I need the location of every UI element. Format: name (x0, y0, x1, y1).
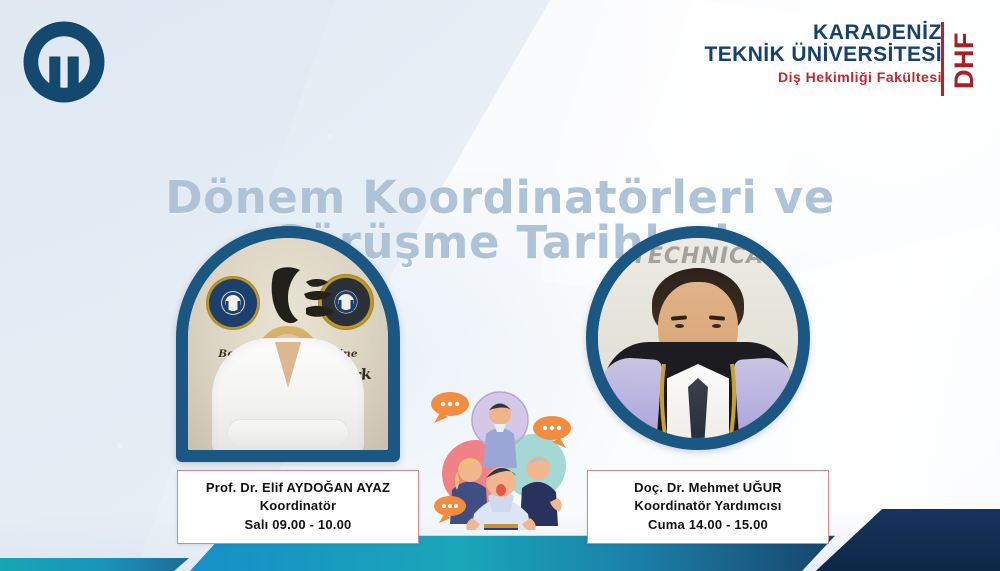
faculty-abbrev-text: DHF (949, 32, 980, 89)
person-time-left: Salı 09.00 - 10.00 (184, 516, 412, 534)
photo-right-robe (603, 342, 793, 438)
faculty-name: Diş Hekimliği Fakültesi (705, 70, 942, 85)
photo-right-brow-right (709, 315, 725, 320)
photo-right-eye-right (712, 324, 721, 328)
people-talking-illustration (428, 378, 574, 530)
photo-right: TECHNICA (598, 238, 798, 438)
person-name-right: Doç. Dr. Mehmet UĞUR (594, 479, 822, 497)
photo-right-gold-cord-icon (638, 362, 758, 438)
ktu-logo-icon (18, 16, 110, 108)
university-line-1: KARADENİZ (705, 22, 942, 44)
person-card-left: Beni Türk Hekimlerine Emanet Ediniz. K. … (176, 226, 400, 462)
ataturk-silhouette-icon (266, 266, 340, 332)
university-line-2: TEKNİK ÜNİVERSİTESİ (705, 44, 942, 66)
name-card-left: Prof. Dr. Elif AYDOĞAN AYAZ Koordinatör … (177, 470, 419, 544)
person-role-right: Koordinatör Yardımcısı (594, 497, 822, 515)
person-name-left: Prof. Dr. Elif AYDOĞAN AYAZ (184, 479, 412, 497)
photo-left-crossed-arms (228, 420, 348, 446)
photo-frame-left: Beni Türk Hekimlerine Emanet Ediniz. K. … (176, 226, 400, 462)
brand-text-block: KARADENİZ TEKNİK ÜNİVERSİTESİ Diş Hekiml… (705, 22, 942, 84)
page-title: Dönem Koordinatörleri ve Görüşme Tarihle… (0, 176, 1000, 265)
poster-canvas: KARADENİZ TEKNİK ÜNİVERSİTESİ Diş Hekiml… (0, 0, 1000, 571)
faculty-abbrev-badge: DHF (949, 20, 979, 100)
brand-divider-rule (941, 22, 944, 96)
person-time-right: Cuma 14.00 - 15.00 (594, 516, 822, 534)
photo-frame-right: TECHNICA (586, 226, 810, 450)
person-role-left: Koordinatör (184, 497, 412, 515)
photo-left: Beni Türk Hekimlerine Emanet Ediniz. K. … (188, 238, 388, 450)
ktu-emblem-left (206, 276, 260, 330)
photo-right-eye-left (675, 324, 684, 328)
person-card-right: TECHNICA (586, 226, 810, 450)
ktu-emblem-core-icon (222, 292, 244, 314)
photo-right-brow-left (671, 315, 687, 320)
backdrop-word: TECHNICA (606, 244, 790, 269)
name-card-right: Doç. Dr. Mehmet UĞUR Koordinatör Yardımc… (587, 470, 829, 544)
